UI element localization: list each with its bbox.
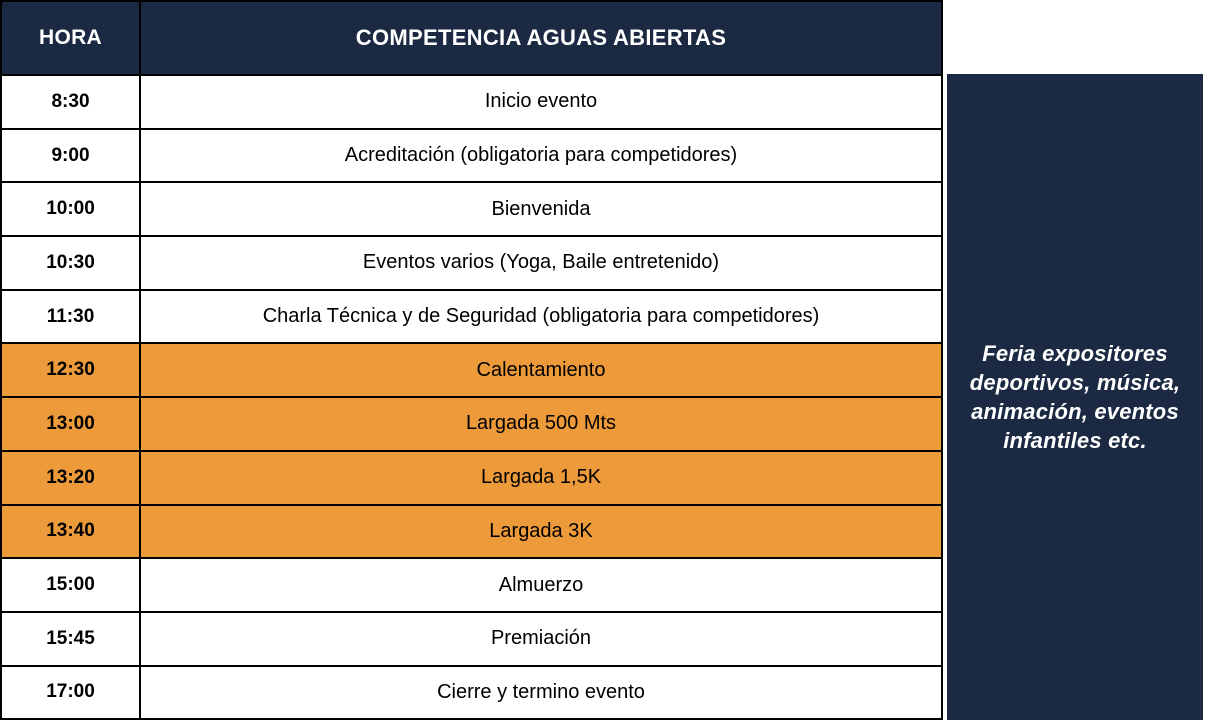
cell-time: 13:00 [1,397,140,451]
cell-time: 13:40 [1,505,140,559]
cell-description: Eventos varios (Yoga, Baile entretenido) [140,236,942,290]
cell-description: Charla Técnica y de Seguridad (obligator… [140,290,942,344]
cell-description: Inicio evento [140,75,942,129]
cell-time: 12:30 [1,343,140,397]
side-info-panel: Feria expositores deportivos, música, an… [947,74,1203,720]
side-panel-top-spacer [947,0,1203,74]
cell-time: 13:20 [1,451,140,505]
table-row: 15:45Premiación [1,612,942,666]
table-body: 8:30Inicio evento9:00Acreditación (oblig… [1,75,942,719]
table-row: 10:00Bienvenida [1,182,942,236]
side-info-panel-text: Feria expositores deportivos, música, an… [957,339,1193,455]
cell-time: 15:45 [1,612,140,666]
cell-time: 9:00 [1,129,140,183]
header-row: HORA COMPETENCIA AGUAS ABIERTAS [1,1,942,75]
cell-description: Calentamiento [140,343,942,397]
cell-time: 10:00 [1,182,140,236]
cell-description: Largada 3K [140,505,942,559]
schedule-page: HORA COMPETENCIA AGUAS ABIERTAS 8:30Inic… [0,0,1210,720]
cell-description: Almuerzo [140,558,942,612]
table-row: 9:00Acreditación (obligatoria para compe… [1,129,942,183]
table-row: 13:20Largada 1,5K [1,451,942,505]
cell-time: 11:30 [1,290,140,344]
column-header-competencia: COMPETENCIA AGUAS ABIERTAS [140,1,942,75]
table-row: 12:30Calentamiento [1,343,942,397]
cell-description: Acreditación (obligatoria para competido… [140,129,942,183]
table-row: 13:00Largada 500 Mts [1,397,942,451]
table-header: HORA COMPETENCIA AGUAS ABIERTAS [1,1,942,75]
cell-time: 8:30 [1,75,140,129]
cell-time: 15:00 [1,558,140,612]
table-row: 13:40Largada 3K [1,505,942,559]
column-header-hora: HORA [1,1,140,75]
cell-description: Largada 1,5K [140,451,942,505]
table-row: 8:30Inicio evento [1,75,942,129]
table-row: 10:30Eventos varios (Yoga, Baile entrete… [1,236,942,290]
cell-description: Cierre y termino evento [140,666,942,720]
cell-time: 17:00 [1,666,140,720]
cell-description: Bienvenida [140,182,942,236]
cell-description: Largada 500 Mts [140,397,942,451]
cell-description: Premiación [140,612,942,666]
table-row: 15:00Almuerzo [1,558,942,612]
table-row: 11:30Charla Técnica y de Seguridad (obli… [1,290,942,344]
event-schedule-table: HORA COMPETENCIA AGUAS ABIERTAS 8:30Inic… [0,0,943,720]
table-row: 17:00Cierre y termino evento [1,666,942,720]
cell-time: 10:30 [1,236,140,290]
